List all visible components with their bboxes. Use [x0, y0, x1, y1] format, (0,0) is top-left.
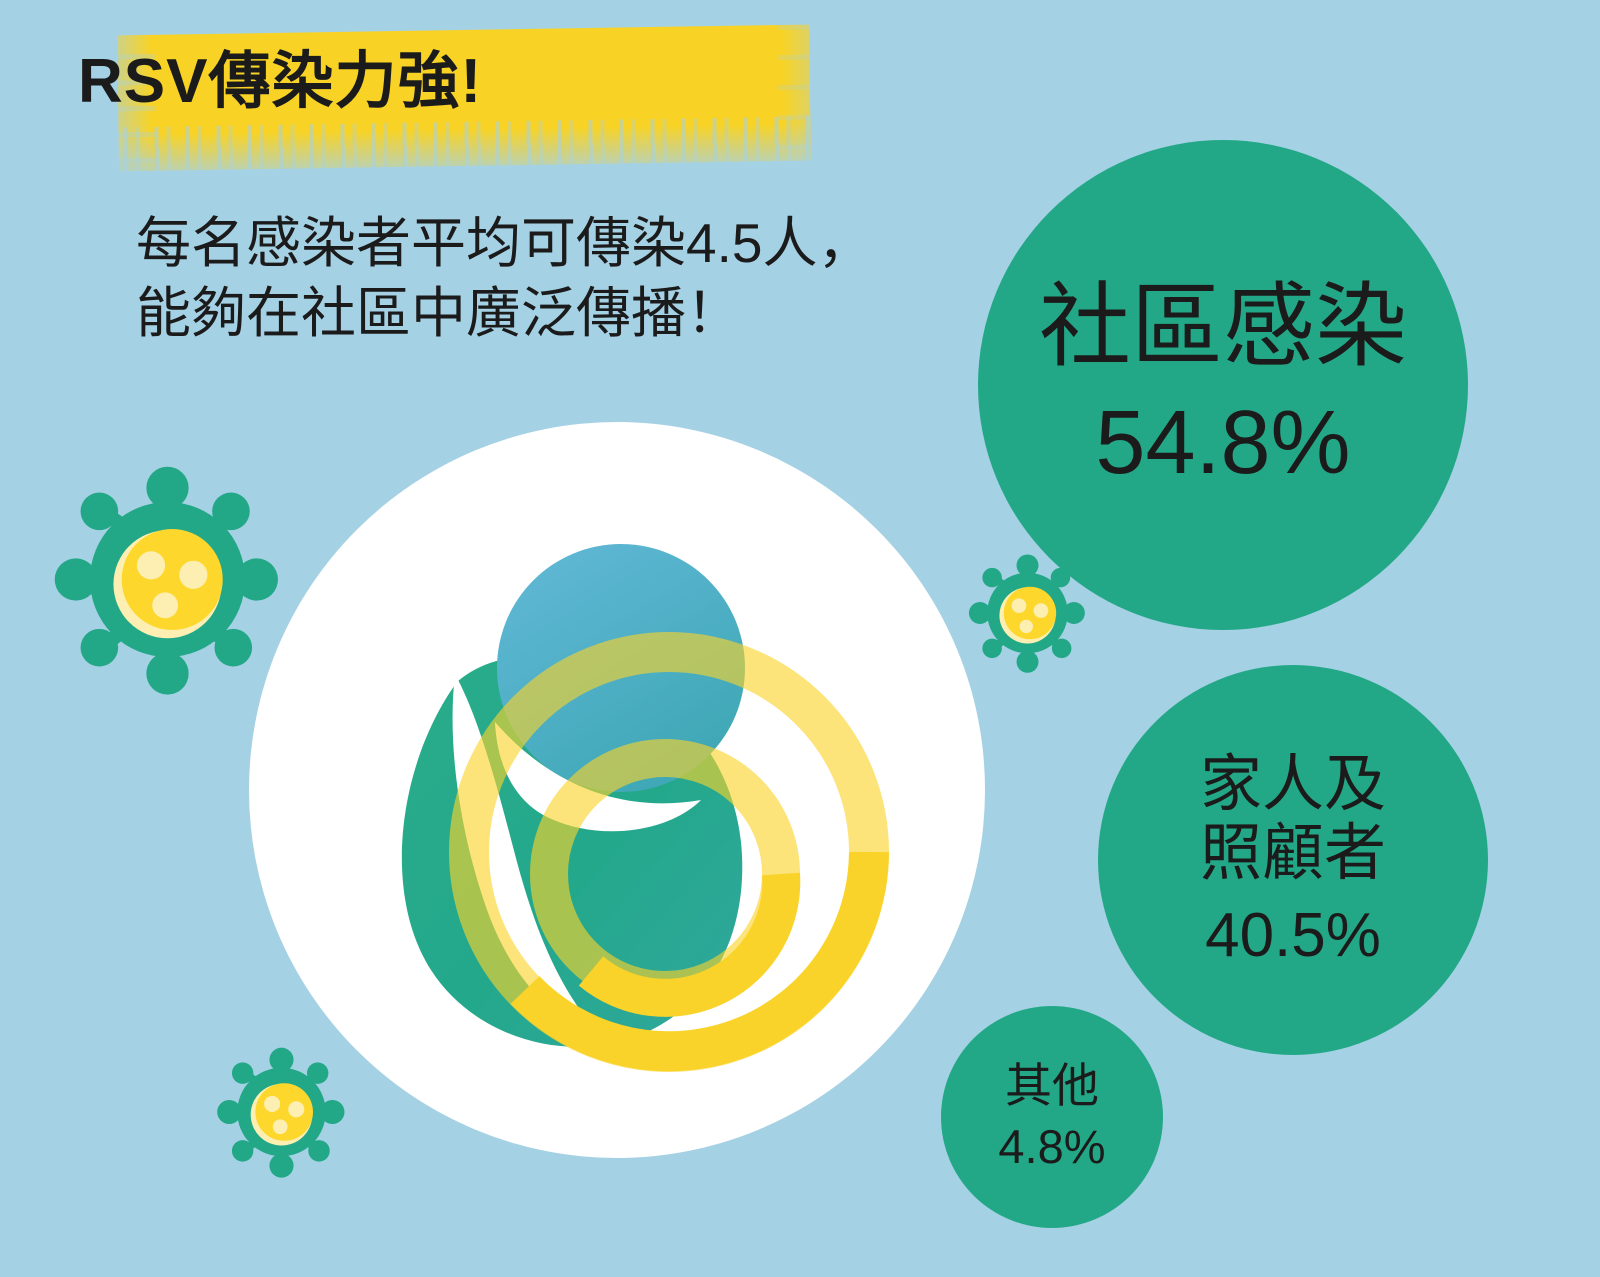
- stat-bubble-other: 其他 4.8%: [941, 1006, 1163, 1228]
- virus-icon-bottom: [213, 1045, 350, 1179]
- virus-icon-right: [965, 552, 1090, 674]
- logo-disc: [249, 422, 985, 1158]
- stat-label-family: 家人及 照顧者: [1200, 750, 1386, 889]
- infographic-poster: RSV傳染力強! 每名感染者平均可傳染4.5人， 能夠在社區中廣泛傳播！: [0, 0, 1600, 1277]
- stat-label-other: 其他: [1005, 1060, 1099, 1113]
- stat-bubble-family: 家人及 照顧者 40.5%: [1098, 665, 1488, 1055]
- body-paragraph: 每名感染者平均可傳染4.5人， 能夠在社區中廣泛傳播！: [136, 208, 1036, 349]
- stat-value-community: 54.8%: [1095, 393, 1350, 494]
- title-banner-rough-right-edge: [777, 25, 813, 162]
- stat-label-community: 社區感染: [1039, 276, 1407, 379]
- title-banner-rough-bottom-edge: [118, 117, 811, 174]
- organization-logo: [249, 422, 985, 1158]
- stat-value-other: 4.8%: [998, 1121, 1105, 1174]
- page-title: RSV傳染力強!: [78, 30, 482, 120]
- stat-value-family: 40.5%: [1205, 901, 1381, 970]
- virus-icon-left: [45, 462, 290, 697]
